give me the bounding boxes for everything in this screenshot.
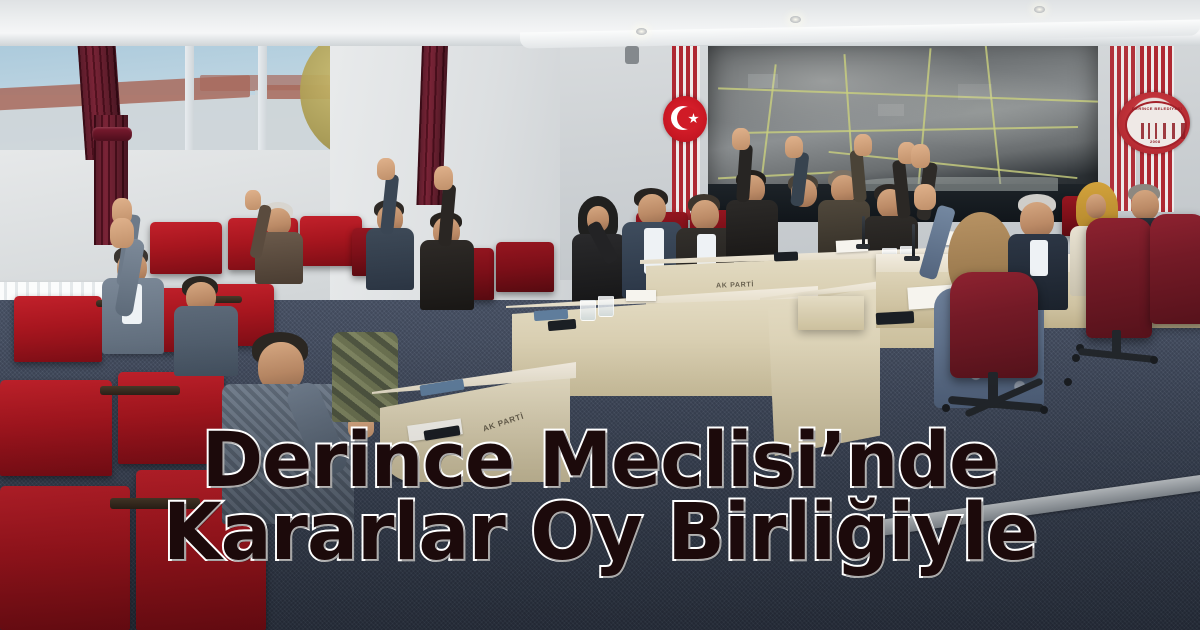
gallery-seat bbox=[0, 380, 112, 476]
desk-label-back: AK PARTİ bbox=[716, 281, 754, 289]
downlight-icon bbox=[790, 16, 801, 23]
downlight-icon bbox=[1034, 6, 1045, 13]
mobile-phone bbox=[774, 252, 798, 262]
chair-castor bbox=[1040, 406, 1048, 414]
chair-castor bbox=[1072, 354, 1080, 362]
chair-castor bbox=[1064, 378, 1072, 386]
document-sheet bbox=[626, 290, 656, 301]
mobile-phone bbox=[876, 311, 915, 325]
gallery-seat bbox=[14, 296, 102, 362]
microphone bbox=[862, 216, 865, 246]
lectern-shelf bbox=[798, 296, 864, 330]
microphone bbox=[912, 224, 915, 258]
seat-armrest bbox=[100, 386, 180, 395]
seat-armrest bbox=[110, 498, 200, 509]
downlight-icon bbox=[636, 28, 647, 35]
curtain-tie-left bbox=[92, 127, 132, 141]
skyline-silhouette-icon bbox=[1141, 123, 1185, 139]
chair-castor bbox=[1150, 356, 1158, 364]
gallery-seat bbox=[496, 242, 554, 292]
seal-top-text: DERİNCE BELEDİYESİ bbox=[1132, 106, 1182, 111]
seal-bottom-text: 2008 bbox=[1150, 139, 1161, 144]
chair-castor bbox=[942, 404, 950, 412]
ceiling-speaker-icon bbox=[625, 46, 639, 64]
microphone-base bbox=[856, 244, 870, 249]
municipality-seal: DERİNCE BELEDİYESİ 2008 bbox=[1118, 92, 1190, 154]
news-photo-canvas: DERİNCE BELEDİYESİ 2008 bbox=[0, 0, 1200, 630]
microphone-base bbox=[904, 256, 920, 261]
turkish-flag-emblem bbox=[663, 96, 707, 142]
water-glass bbox=[580, 300, 596, 321]
leather-chair-front bbox=[950, 272, 1038, 378]
leather-chair bbox=[1150, 214, 1200, 324]
water-glass bbox=[598, 296, 614, 317]
seal-inner-ring: DERİNCE BELEDİYESİ 2008 bbox=[1125, 101, 1187, 149]
leather-chair bbox=[1086, 218, 1152, 338]
gallery-seat bbox=[150, 222, 222, 274]
